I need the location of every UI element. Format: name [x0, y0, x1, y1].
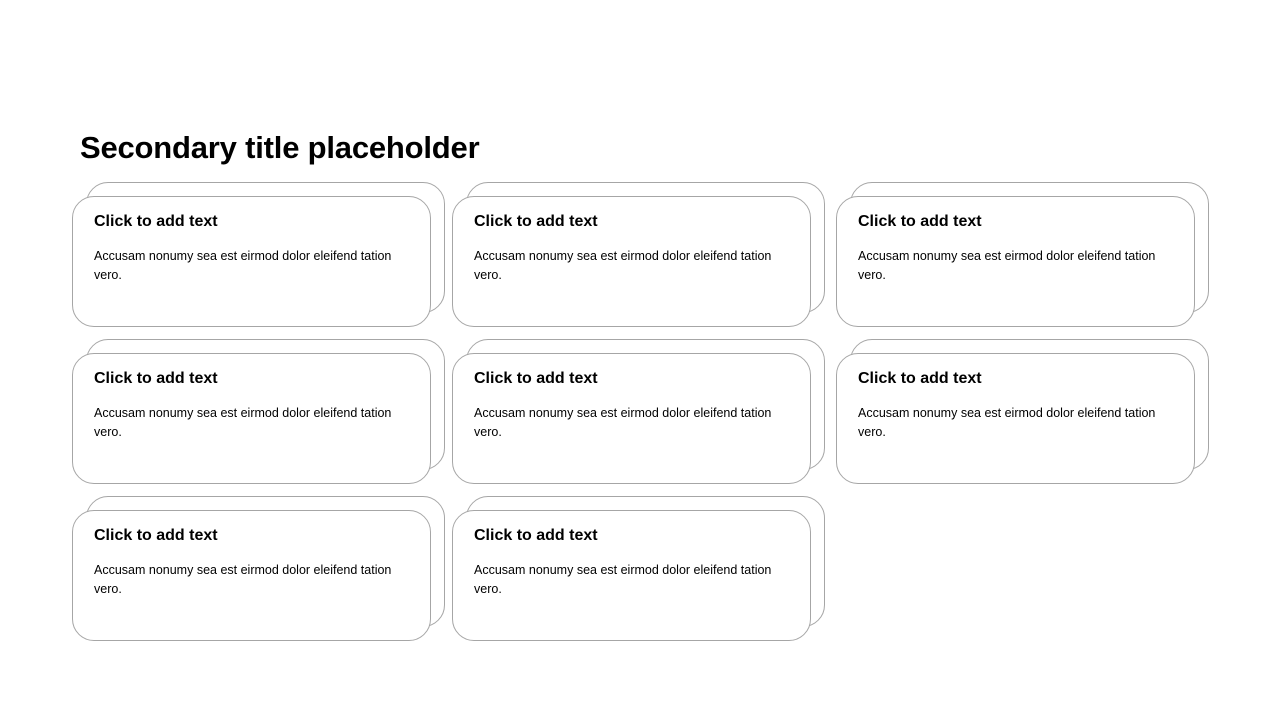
slide-canvas: Secondary title placeholder Click to add… — [0, 0, 1280, 720]
card-body: Click to add text Accusam nonumy sea est… — [858, 369, 1175, 441]
card-text: Accusam nonumy sea est eirmod dolor elei… — [474, 247, 791, 284]
card-text: Accusam nonumy sea est eirmod dolor elei… — [474, 561, 791, 598]
card-heading: Click to add text — [94, 369, 411, 389]
card-body: Click to add text Accusam nonumy sea est… — [474, 212, 791, 284]
card-heading: Click to add text — [94, 526, 411, 546]
card-text: Accusam nonumy sea est eirmod dolor elei… — [474, 404, 791, 441]
card-heading: Click to add text — [858, 369, 1175, 389]
card[interactable]: Click to add text Accusam nonumy sea est… — [72, 182, 445, 327]
card[interactable]: Click to add text Accusam nonumy sea est… — [836, 182, 1209, 327]
card[interactable]: Click to add text Accusam nonumy sea est… — [452, 182, 825, 327]
card-heading: Click to add text — [474, 526, 791, 546]
card[interactable]: Click to add text Accusam nonumy sea est… — [452, 339, 825, 484]
card[interactable]: Click to add text Accusam nonumy sea est… — [72, 496, 445, 641]
card-body: Click to add text Accusam nonumy sea est… — [94, 212, 411, 284]
card-body: Click to add text Accusam nonumy sea est… — [94, 526, 411, 598]
card-heading: Click to add text — [474, 212, 791, 232]
card-body: Click to add text Accusam nonumy sea est… — [474, 369, 791, 441]
card-text: Accusam nonumy sea est eirmod dolor elei… — [94, 247, 411, 284]
card-heading: Click to add text — [474, 369, 791, 389]
card-text: Accusam nonumy sea est eirmod dolor elei… — [94, 404, 411, 441]
card[interactable]: Click to add text Accusam nonumy sea est… — [452, 496, 825, 641]
card-heading: Click to add text — [94, 212, 411, 232]
card-grid: Click to add text Accusam nonumy sea est… — [0, 0, 1280, 720]
card-heading: Click to add text — [858, 212, 1175, 232]
card-text: Accusam nonumy sea est eirmod dolor elei… — [858, 247, 1175, 284]
card-text: Accusam nonumy sea est eirmod dolor elei… — [858, 404, 1175, 441]
card[interactable]: Click to add text Accusam nonumy sea est… — [836, 339, 1209, 484]
card-text: Accusam nonumy sea est eirmod dolor elei… — [94, 561, 411, 598]
card-body: Click to add text Accusam nonumy sea est… — [94, 369, 411, 441]
card-body: Click to add text Accusam nonumy sea est… — [474, 526, 791, 598]
card-body: Click to add text Accusam nonumy sea est… — [858, 212, 1175, 284]
card[interactable]: Click to add text Accusam nonumy sea est… — [72, 339, 445, 484]
